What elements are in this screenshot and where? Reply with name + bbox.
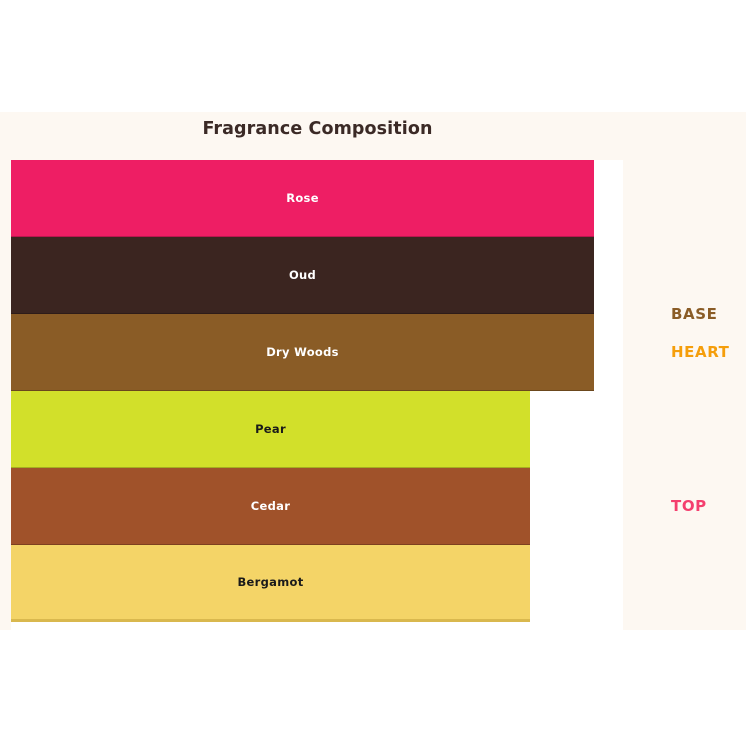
- page-title: Fragrance Composition: [0, 119, 635, 139]
- bar-cedar[interactable]: Cedar: [11, 468, 530, 545]
- bar-label-oud: Oud: [11, 268, 594, 282]
- stage-label-base: BASE: [671, 305, 718, 323]
- bar-oud[interactable]: Oud: [11, 237, 594, 314]
- chart-figure: Fragrance Composition Rose Oud Dry Woods…: [0, 112, 746, 630]
- bar-label-rose: Rose: [11, 191, 594, 205]
- bar-pear[interactable]: Pear: [11, 391, 530, 468]
- bar-label-pear: Pear: [11, 422, 530, 436]
- bar-dry-woods[interactable]: Dry Woods: [11, 314, 594, 391]
- bar-label-cedar: Cedar: [11, 499, 530, 513]
- stage-label-heart: HEART: [671, 343, 730, 361]
- bar-label-dry-woods: Dry Woods: [11, 345, 594, 359]
- bar-bergamot[interactable]: Bergamot: [11, 545, 530, 622]
- bar-label-bergamot: Bergamot: [11, 575, 530, 589]
- bar-rose[interactable]: Rose: [11, 160, 594, 237]
- stage-label-top: TOP: [671, 497, 707, 515]
- plot-area: Rose Oud Dry Woods Pear Cedar Bergamot: [11, 160, 623, 630]
